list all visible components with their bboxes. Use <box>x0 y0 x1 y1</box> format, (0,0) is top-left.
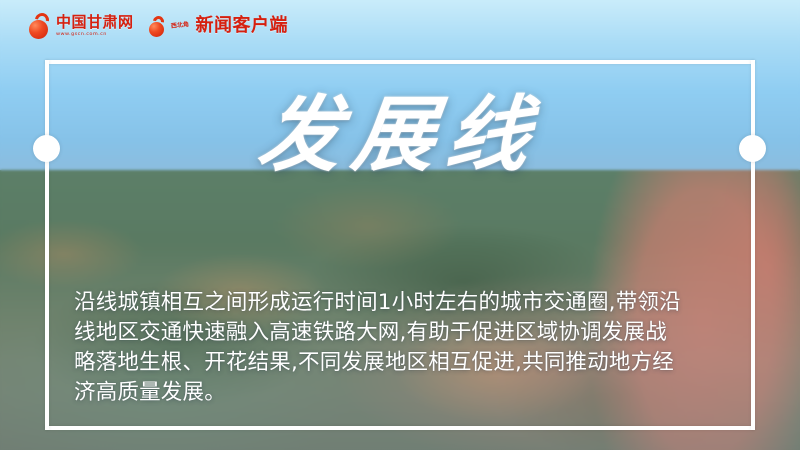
body-line: 略落地生根、开花结果,不同发展地区相互促进,共同推动地方经 <box>74 348 726 378</box>
logo-xibeijiao-app[interactable]: 西北角 新闻客户端 <box>148 16 289 37</box>
logo-xibeijiao-badge: 西北角 <box>170 22 189 30</box>
body-line: 线地区交通快速融入高速铁路大网,有助于促进区域协调发展战 <box>74 318 726 348</box>
logo-gansu-net-name: 中国甘肃网 <box>56 15 134 30</box>
xibeijiao-seal-logo-icon <box>148 16 165 37</box>
body-line: 济高质量发展。 <box>74 378 726 408</box>
news-poster: 中国甘肃网 www.gscn.com.cn 西北角 新闻客户端 发展线 沿线城镇… <box>0 0 800 450</box>
body-paragraph: 沿线城镇相互之间形成运行时间1小时左右的城市交通圈,带领沿 线地区交通快速融入高… <box>74 288 726 408</box>
logo-gansu-net-url: www.gscn.com.cn <box>56 31 134 37</box>
header-logo-bar: 中国甘肃网 www.gscn.com.cn 西北角 新闻客户端 <box>0 0 800 52</box>
logo-gansu-net-text: 中国甘肃网 www.gscn.com.cn <box>56 15 134 37</box>
logo-gansu-net[interactable]: 中国甘肃网 www.gscn.com.cn <box>28 13 134 39</box>
page-title: 发展线 <box>0 92 800 178</box>
logo-xibeijiao-name: 新闻客户端 <box>196 17 289 35</box>
gansu-net-flame-logo-icon <box>28 13 50 39</box>
body-line: 沿线城镇相互之间形成运行时间1小时左右的城市交通圈,带领沿 <box>74 288 726 318</box>
